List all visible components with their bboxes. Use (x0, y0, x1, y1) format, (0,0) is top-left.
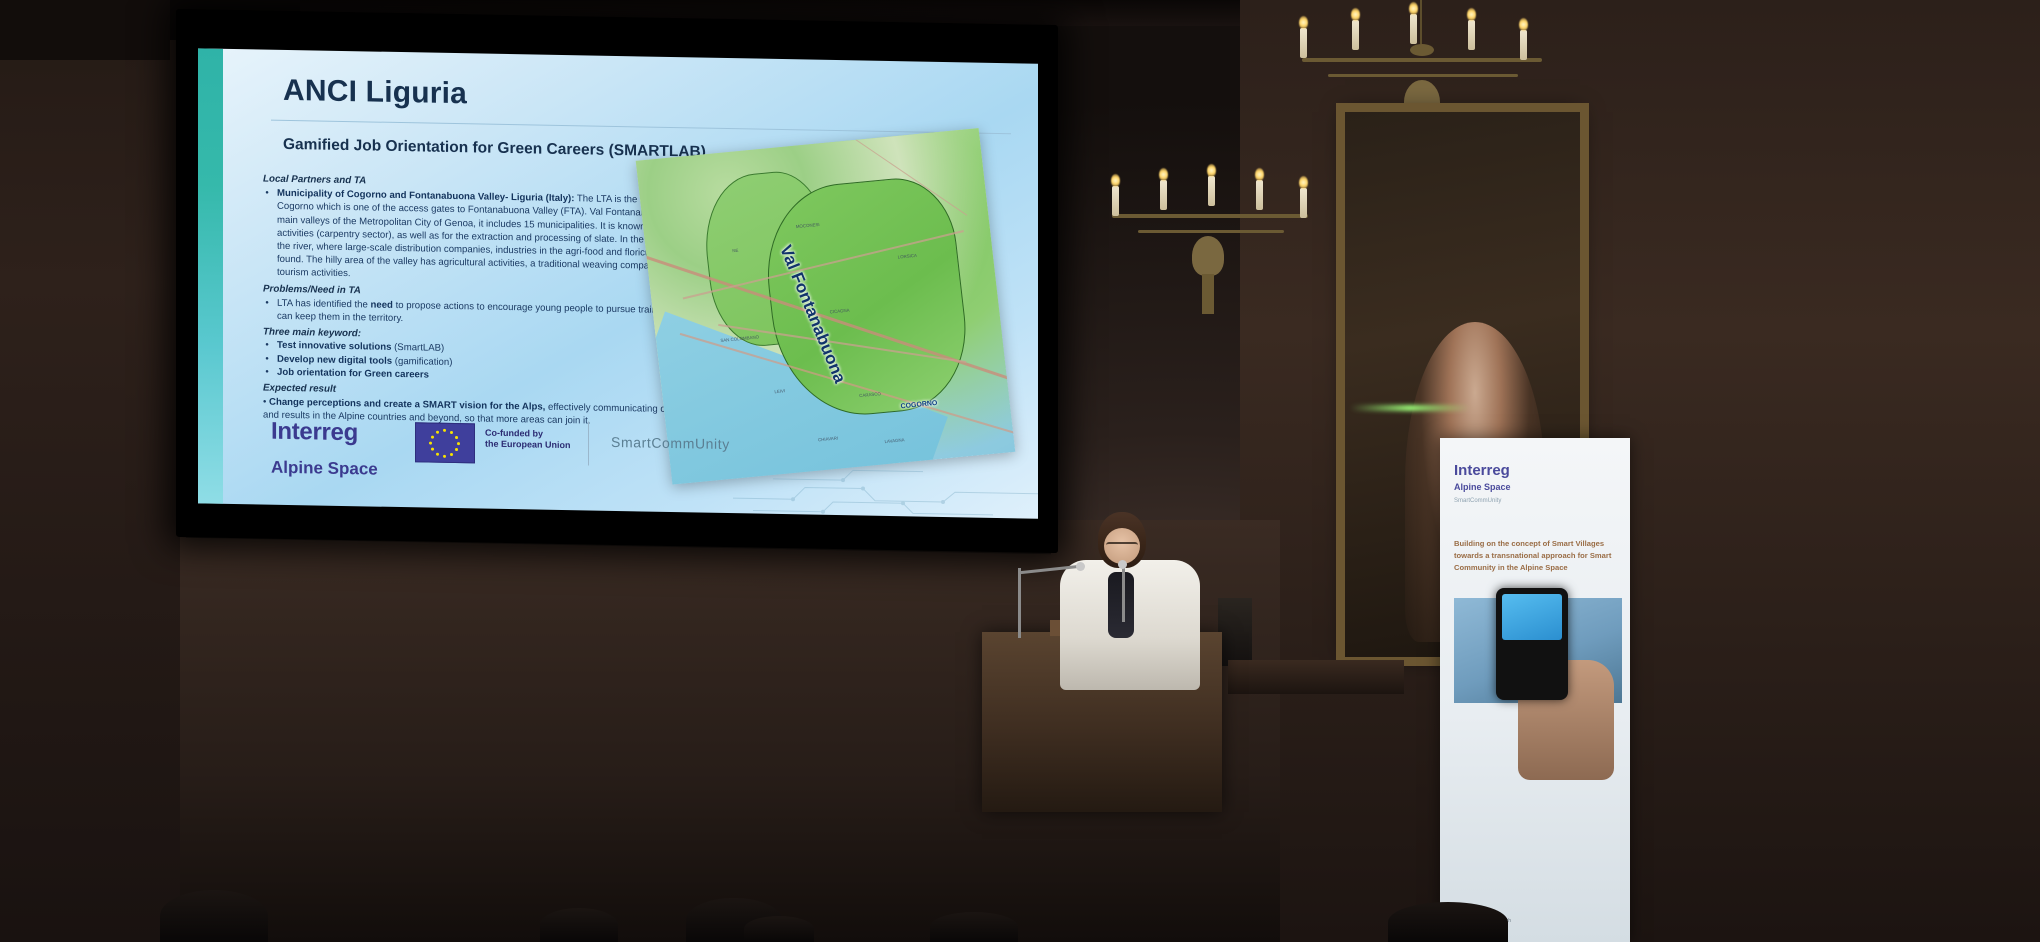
laser-pointer-beam (1350, 405, 1470, 411)
eyeglasses-icon (1106, 542, 1138, 551)
audience-head (540, 908, 618, 942)
microphone-head (1118, 560, 1127, 569)
rollup-programme-text: Alpine Space (1454, 482, 1511, 492)
eu-flag-icon (415, 422, 475, 463)
ceiling-corner (0, 0, 170, 60)
slide-subtitle: Gamified Job Orientation for Green Caree… (283, 136, 706, 162)
rollup-interreg-text: Interreg (1454, 462, 1510, 479)
bullet-icon: • (263, 339, 271, 352)
audience-head (930, 912, 1018, 942)
eu-stars (416, 423, 474, 462)
footer-divider (588, 421, 589, 465)
bullet-icon: • (263, 296, 271, 323)
audience-head (744, 916, 814, 942)
bullet-icon: • (263, 365, 271, 378)
presentation-slide: ANCI Liguria Gamified Job Orientation fo… (198, 48, 1038, 518)
map-place-label: LEIVI (774, 388, 785, 394)
microphone-stand (1122, 566, 1125, 622)
circuit-decoration (733, 458, 1038, 519)
bullet-icon: • (263, 352, 271, 365)
list-item-rest: (gamification) (392, 356, 452, 368)
microphone-stand (1018, 568, 1021, 638)
project-name-text: SmartCommUnity (611, 434, 730, 452)
phone-screen (1502, 594, 1562, 640)
audience-head (160, 890, 268, 942)
speaker-cabinet (1218, 598, 1252, 666)
list-item-bold: need (371, 299, 393, 310)
rollup-project-text: SmartCommUnity (1454, 498, 1501, 504)
map-place-label: NE (732, 248, 739, 254)
chandelier-lower-left (1096, 168, 1326, 388)
slide-title: ANCI Liguria (283, 74, 467, 111)
interreg-logo-text: Interreg (271, 418, 358, 448)
list-item-bold: Test innovative solutions (277, 340, 391, 353)
audience-head (1388, 902, 1508, 942)
slide-accent-bar (198, 48, 223, 503)
rollup-body-text: Building on the concept of Smart Village… (1454, 538, 1619, 574)
conference-room-photo: ANCI Liguria Gamified Job Orientation fo… (0, 0, 2040, 942)
list-item-pre: LTA has identified the (277, 298, 371, 311)
alpine-space-logo-text: Alpine Space (271, 458, 378, 480)
bullet-icon: • (263, 397, 266, 408)
list-item-rest: (SmartLAB) (391, 342, 444, 354)
eu-funding-line2: the European Union (485, 439, 571, 452)
eu-funding-text: Co-funded by the European Union (485, 428, 571, 452)
speaker-scarf (1108, 572, 1134, 638)
microphone-head (1076, 562, 1085, 571)
title-divider (271, 120, 1011, 135)
list-item-bold: Develop new digital tools (277, 353, 392, 366)
bullet-icon: • (263, 187, 271, 280)
stage-rail (1228, 660, 1404, 694)
list-item-bold: Job orientation for Green careers (277, 367, 429, 381)
slide-footer: Interreg Alpine Space Co-fund (263, 412, 1023, 506)
projection-screen: ANCI Liguria Gamified Job Orientation fo… (176, 9, 1058, 553)
